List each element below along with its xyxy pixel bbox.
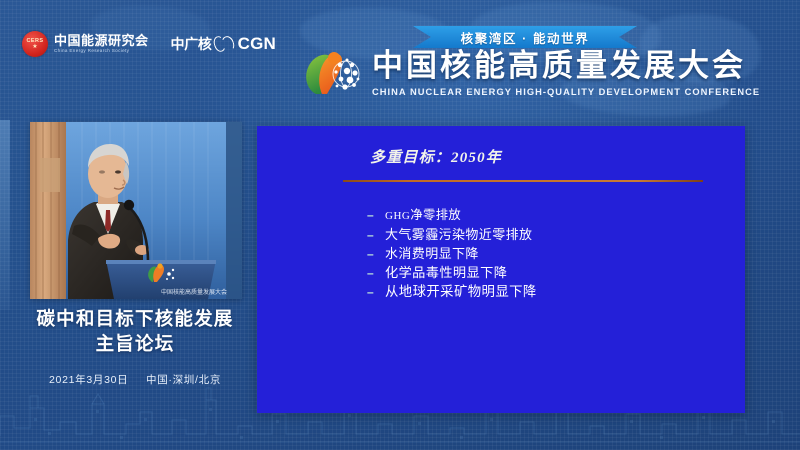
forum-date: 2021年3月30日 <box>49 374 128 386</box>
cers-badge-icon: CERS ★ <box>22 31 48 57</box>
conference-wordmark: 中国核能高质量发展大会 CHINA NUCLEAR ENERGY HIGH-QU… <box>372 49 760 97</box>
forum-title-line2: 主旨论坛 <box>10 331 260 356</box>
sponsor-logos: CERS ★ 中国能源研究会 China Energy Research Soc… <box>22 30 276 58</box>
cers-wordmark: 中国能源研究会 China Energy Research Society <box>54 34 149 54</box>
forum-location: 中国·深圳/北京 <box>146 374 221 386</box>
cgn-name-en: CGN <box>238 34 276 54</box>
logo-cgn: 中广核 CGN <box>171 34 277 54</box>
slide-bullet-list: –GHG净零排放–大气雾霾污染物近零排放–水消费明显下降–化学品毒性明显下降–从… <box>367 207 537 301</box>
conference-slogan-text: 核聚湾区 · 能动世界 <box>461 28 590 47</box>
cgn-swirl-icon <box>214 35 236 53</box>
cers-star-icon: ★ <box>32 44 37 50</box>
svg-text:中国核能高质量发展大会: 中国核能高质量发展大会 <box>161 288 227 296</box>
slide-bullet-item: –GHG净零排放 <box>367 207 537 225</box>
bullet-marker-icon: – <box>367 207 376 224</box>
speaker-video-frame: 中国核能高质量发展大会 <box>30 122 242 299</box>
cers-name-cn: 中国能源研究会 <box>54 34 149 47</box>
broadcast-stage: CERS ★ 中国能源研究会 China Energy Research Soc… <box>0 0 800 450</box>
conference-slogan-ribbon: 核聚湾区 · 能动世界 <box>413 26 637 48</box>
slide-title-divider <box>343 180 703 182</box>
conference-title-en: CHINA NUCLEAR ENERGY HIGH-QUALITY DEVELO… <box>372 87 760 97</box>
cers-name-en: China Energy Research Society <box>54 49 149 54</box>
light-strip <box>0 120 10 310</box>
cgn-name-cn: 中广核 <box>171 34 212 54</box>
presentation-slide[interactable]: 多重目标：2050年 –GHG净零排放–大气雾霾污染物近零排放–水消费明显下降–… <box>257 126 745 413</box>
slide-bullet-item: –大气雾霾污染物近零排放 <box>367 226 537 244</box>
logo-china-energy-research-society: CERS ★ 中国能源研究会 China Energy Research Soc… <box>22 31 149 57</box>
conference-emblem-icon <box>300 48 362 98</box>
slide-bullet-text: 水消费明显下降 <box>385 245 479 262</box>
slide-bullet-item: –化学品毒性明显下降 <box>367 264 537 282</box>
slide-bullet-text: 大气雾霾污染物近零排放 <box>385 226 532 243</box>
conference-title-cn: 中国核能高质量发展大会 <box>372 49 760 83</box>
speaker-video-panel[interactable]: 中国核能高质量发展大会 <box>30 122 242 299</box>
slide-bullet-text: GHG净零排放 <box>385 207 461 225</box>
slide-bullet-item: –从地球开采矿物明显下降 <box>367 283 537 301</box>
bullet-marker-icon: – <box>367 265 376 282</box>
forum-title-line1: 碳中和目标下核能发展 <box>10 306 260 331</box>
bullet-text-prefix: GHG <box>385 210 410 222</box>
bullet-marker-icon: – <box>367 284 376 301</box>
slide-title: 多重目标：2050年 <box>370 146 502 167</box>
slide-bullet-text: 化学品毒性明显下降 <box>385 264 507 281</box>
slide-bullet-item: –水消费明显下降 <box>367 245 537 263</box>
forum-meta: 2021年3月30日 中国·深圳/北京 <box>10 372 260 387</box>
slide-bullet-text: 从地球开采矿物明显下降 <box>385 283 537 300</box>
conference-title-block: 中国核能高质量发展大会 CHINA NUCLEAR ENERGY HIGH-QU… <box>300 48 760 98</box>
bullet-marker-icon: – <box>367 227 376 244</box>
bullet-marker-icon: – <box>367 246 376 263</box>
forum-caption: 碳中和目标下核能发展 主旨论坛 2021年3月30日 中国·深圳/北京 <box>10 306 260 387</box>
